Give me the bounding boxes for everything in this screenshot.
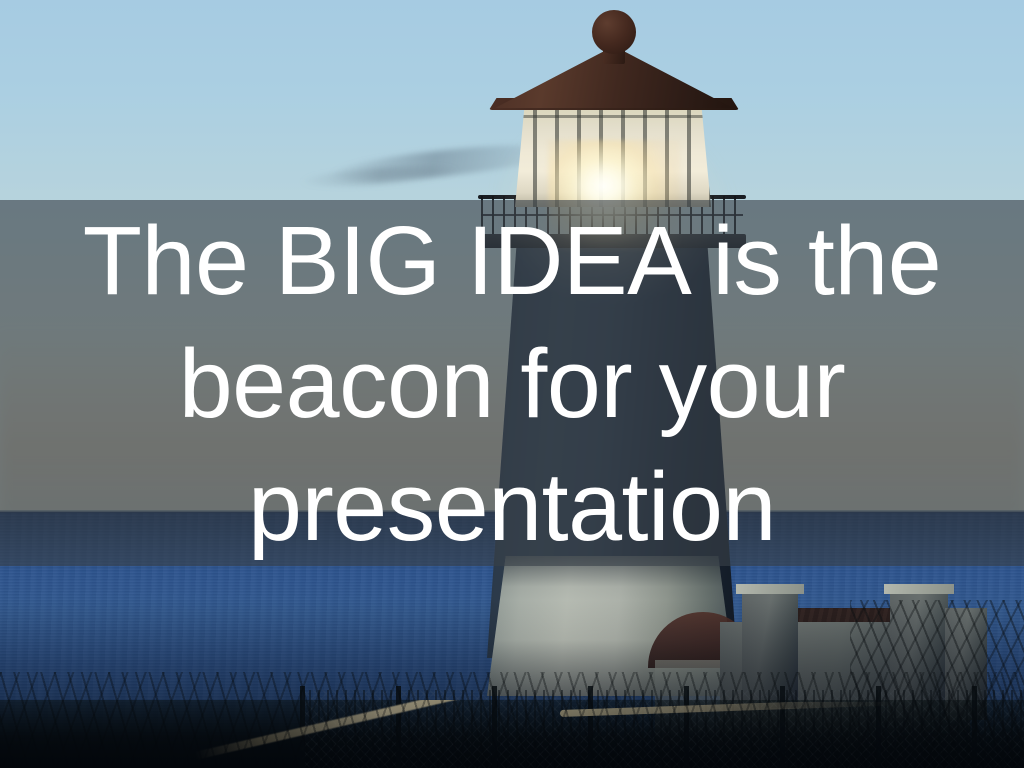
bottom-vignette bbox=[0, 600, 1024, 768]
finial-ball-icon bbox=[592, 10, 636, 54]
chimney-right-cap bbox=[884, 584, 954, 594]
presentation-slide: The BIG IDEA is the beacon for your pres… bbox=[0, 0, 1024, 768]
slide-headline: The BIG IDEA is the beacon for your pres… bbox=[0, 200, 1024, 566]
headline-line-2: beacon for your bbox=[179, 322, 846, 445]
headline-line-1: The BIG IDEA is the bbox=[83, 199, 941, 322]
chimney-left-cap bbox=[736, 584, 804, 594]
headline-line-3: presentation bbox=[248, 445, 776, 568]
